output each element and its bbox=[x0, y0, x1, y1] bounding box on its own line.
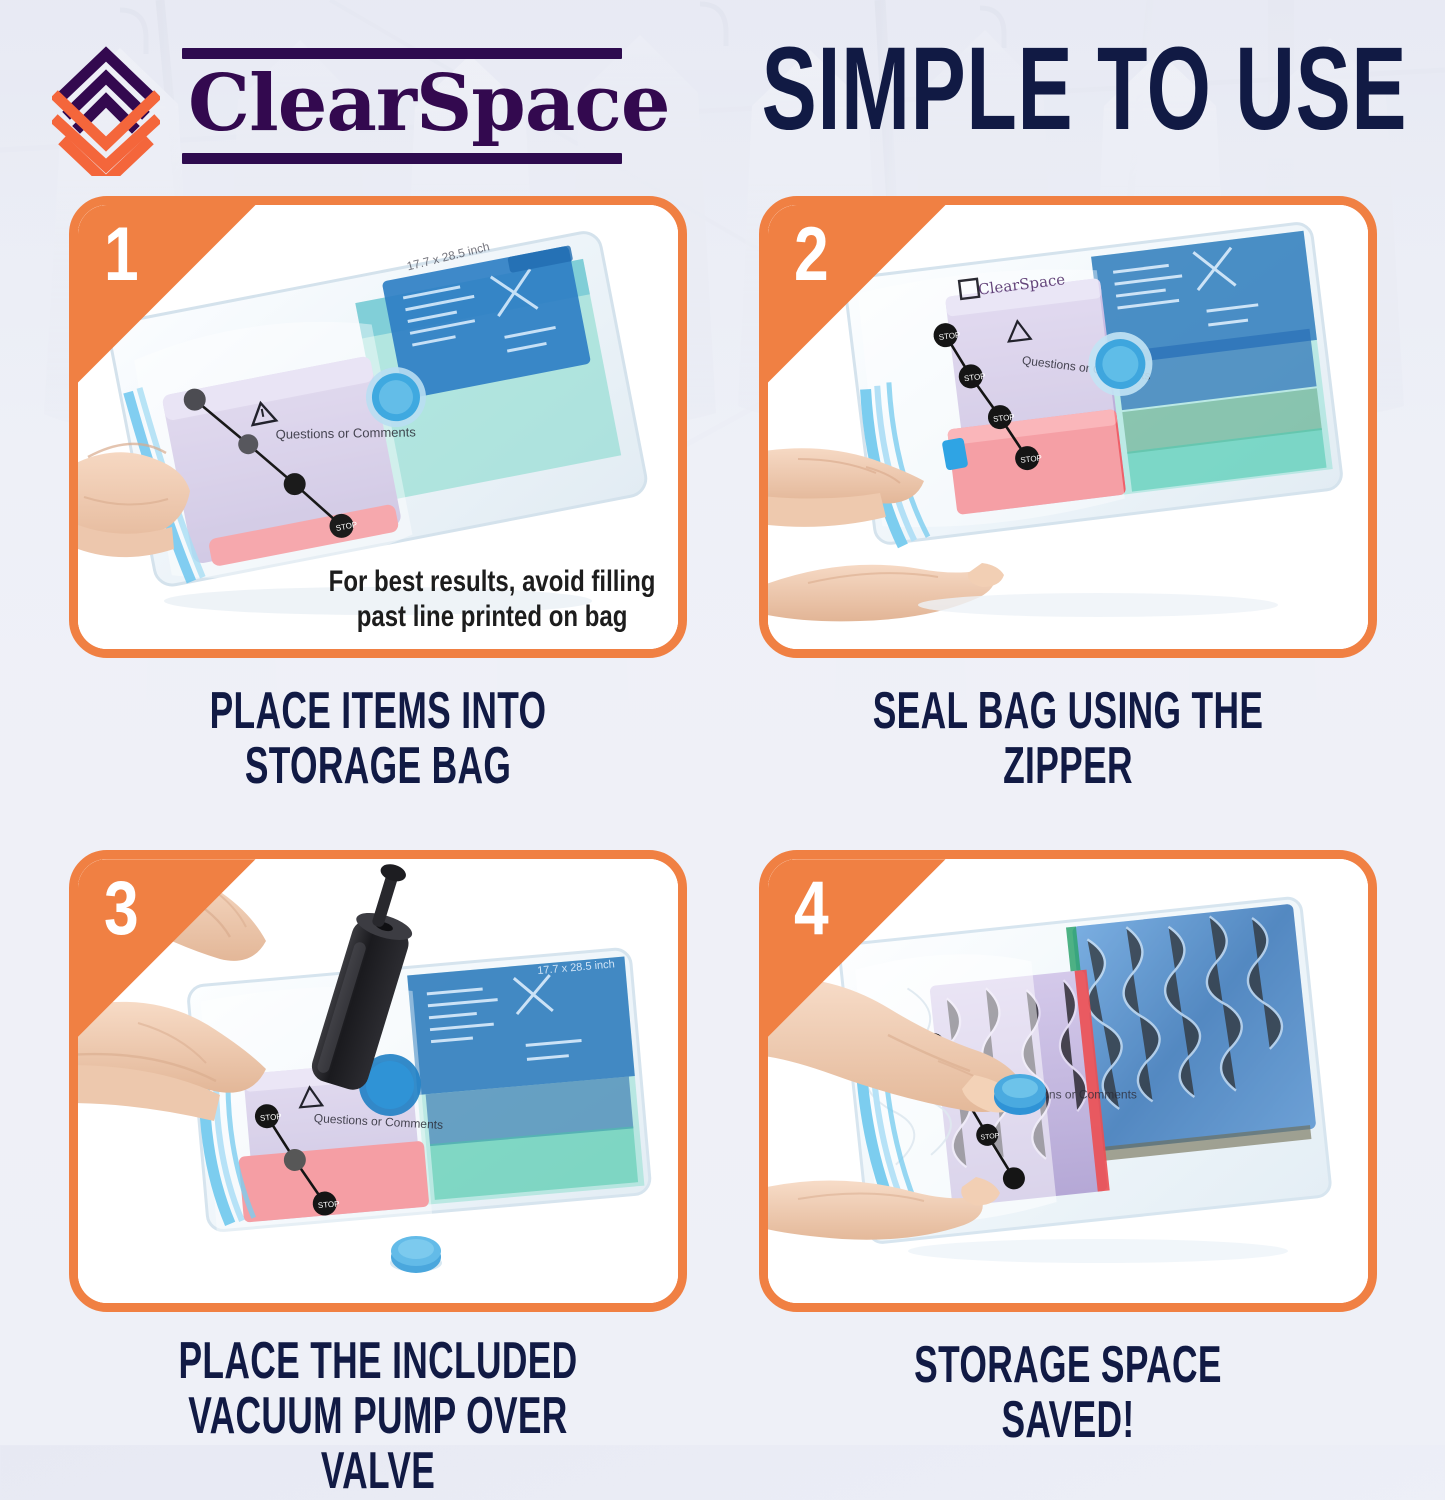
step-4-caption: STORAGE SPACE SAVED! bbox=[759, 1338, 1377, 1448]
steps-grid: Questions or Comments STOP bbox=[0, 196, 1445, 1500]
step-3-caption-line-1: PLACE THE INCLUDED bbox=[167, 1334, 587, 1389]
step-3-caption: PLACE THE INCLUDED VACUUM PUMP OVER VALV… bbox=[69, 1334, 687, 1499]
step-4-panel: Questions or Comments STOP STOP bbox=[759, 850, 1377, 1312]
step-card-2: Questions or Comments ClearSpace STOP ST… bbox=[759, 196, 1377, 794]
step-4-number: 4 bbox=[794, 865, 829, 952]
svg-text:STOP: STOP bbox=[317, 1199, 339, 1210]
page-root: ClearSpace SIMPLE TO USE bbox=[0, 0, 1445, 1445]
step-1-caption-line-1: PLACE ITEMS INTO STORAGE BAG bbox=[167, 684, 587, 794]
logo-glyph bbox=[52, 36, 160, 176]
step-card-3: 17.7 x 28.5 inch Questions or Comments S… bbox=[69, 850, 687, 1499]
step-1-note-line-2: past line printed on bag bbox=[357, 600, 628, 633]
hand-pressing-valve-cap-illustration: Questions or Comments STOP STOP bbox=[768, 859, 1368, 1303]
step-3-photo: 17.7 x 28.5 inch Questions or Comments S… bbox=[78, 859, 678, 1303]
page-title: SIMPLE TO USE bbox=[761, 30, 1407, 148]
steps-row-1: Questions or Comments STOP bbox=[0, 196, 1445, 794]
wordmark-rule-top bbox=[182, 48, 622, 59]
step-4-photo: Questions or Comments STOP STOP bbox=[768, 859, 1368, 1303]
step-3-caption-line-2: VACUUM PUMP OVER VALVE bbox=[167, 1389, 587, 1499]
step-1-note-line-1: For best results, avoid filling bbox=[329, 565, 656, 598]
brand-wordmark: ClearSpace bbox=[182, 48, 674, 165]
step-1-caption: PLACE ITEMS INTO STORAGE BAG bbox=[69, 684, 687, 794]
step-2-caption: SEAL BAG USING THE ZIPPER bbox=[759, 684, 1377, 794]
brand-name: ClearSpace bbox=[182, 63, 674, 152]
step-1-number: 1 bbox=[104, 211, 139, 298]
page-header: ClearSpace SIMPLE TO USE bbox=[0, 0, 1445, 200]
step-3-number: 3 bbox=[104, 865, 139, 952]
brand-logo: ClearSpace bbox=[52, 36, 674, 176]
step-1-note: For best results, avoid filling past lin… bbox=[329, 565, 656, 635]
two-hands-zipping-bag-illustration: Questions or Comments ClearSpace STOP ST… bbox=[768, 205, 1368, 649]
hand-pump-over-valve-illustration: 17.7 x 28.5 inch Questions or Comments S… bbox=[78, 859, 678, 1303]
step-1-panel: Questions or Comments STOP bbox=[69, 196, 687, 658]
wordmark-rule-bottom bbox=[182, 153, 622, 164]
step-2-panel: Questions or Comments ClearSpace STOP ST… bbox=[759, 196, 1377, 658]
step-card-4: Questions or Comments STOP STOP bbox=[759, 850, 1377, 1499]
step-4-caption-line-1: STORAGE SPACE SAVED! bbox=[857, 1338, 1277, 1448]
steps-row-2: 17.7 x 28.5 inch Questions or Comments S… bbox=[0, 850, 1445, 1499]
step-2-number: 2 bbox=[794, 211, 829, 298]
stacked-chevron-diamond-icon bbox=[52, 36, 160, 176]
step-card-1: Questions or Comments STOP bbox=[69, 196, 687, 794]
step-3-panel: 17.7 x 28.5 inch Questions or Comments S… bbox=[69, 850, 687, 1312]
step-2-caption-line-1: SEAL BAG USING THE ZIPPER bbox=[857, 684, 1277, 794]
svg-text:STOP: STOP bbox=[259, 1112, 281, 1123]
step-2-photo: Questions or Comments ClearSpace STOP ST… bbox=[768, 205, 1368, 649]
